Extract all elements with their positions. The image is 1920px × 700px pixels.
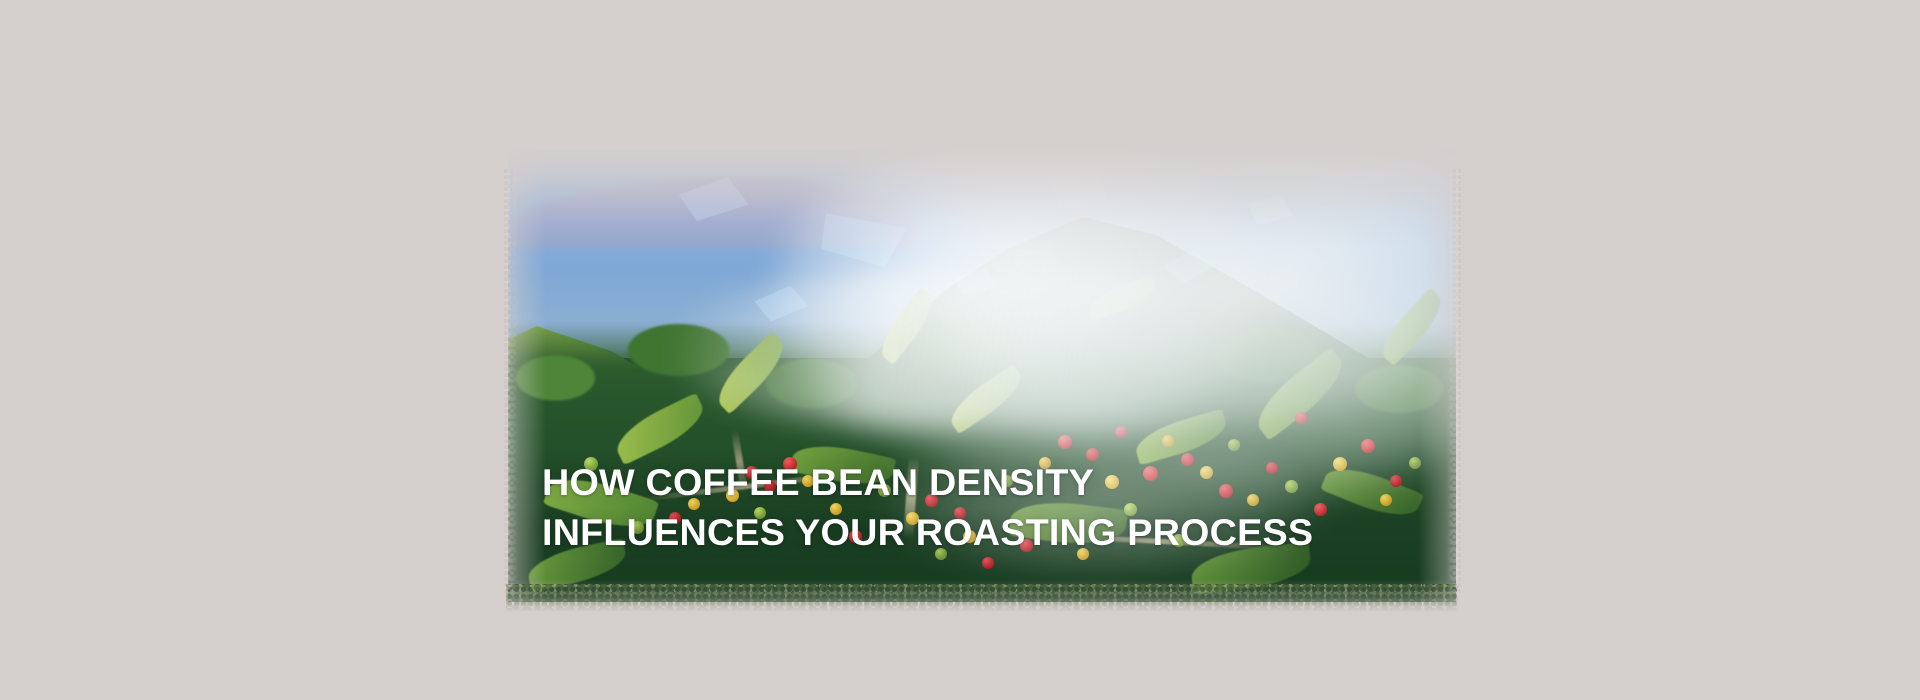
hero-banner: HOW COFFEE BEAN DENSITY INFLUENCES YOUR … — [508, 150, 1456, 602]
headline-line-2: INFLUENCES YOUR ROASTING PROCESS — [542, 508, 1313, 558]
headline-line-1: HOW COFFEE BEAN DENSITY — [542, 458, 1313, 508]
coffee-cherry-red — [1390, 475, 1402, 487]
coffee-cherry-red — [1314, 503, 1327, 516]
coffee-cherry-red — [1115, 426, 1127, 438]
hero-headline: HOW COFFEE BEAN DENSITY INFLUENCES YOUR … — [542, 458, 1298, 558]
coffee-cherry-red — [982, 557, 994, 569]
coffee-cherry-green — [1409, 457, 1421, 469]
coffee-cherry-yellow — [1162, 435, 1174, 447]
coffee-cherry-red — [1058, 435, 1072, 449]
coffee-cherry-red — [1295, 412, 1307, 424]
coffee-cherry-yellow — [1380, 494, 1392, 506]
